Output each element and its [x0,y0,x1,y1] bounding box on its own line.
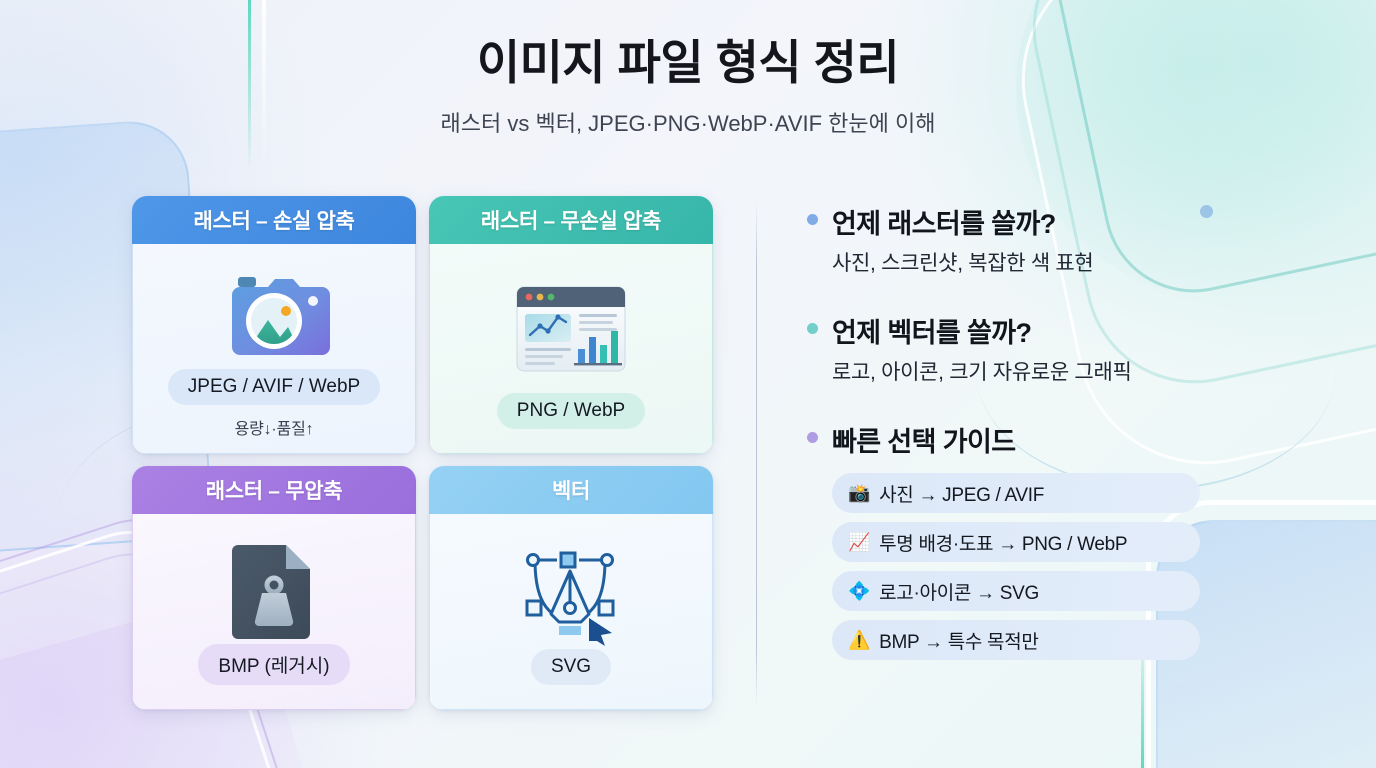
guide-row-text: 로고·아이콘 → SVG [879,578,1039,605]
diamond-with-dot-emoji-icon: 💠 [848,582,870,600]
block-quick-guide: 빠른 선택 가이드 📸 사진 → JPEG / AVIF 📈 투명 배경·도표 … [807,420,1376,660]
card-format-pill: PNG / WebP [497,393,645,429]
guide-row-photo[interactable]: 📸 사진 → JPEG / AVIF [832,473,1200,513]
card-heading: 래스터 – 무손실 압축 [429,196,713,244]
card-vector[interactable]: 벡터 [429,466,713,710]
card-heading: 래스터 – 손실 압축 [132,196,416,244]
guide-row-transparent-chart[interactable]: 📈 투명 배경·도표 → PNG / WebP [832,522,1200,562]
bullet-dot-icon [807,323,818,334]
pen-tool-icon [509,534,633,649]
card-raster-uncompressed[interactable]: 래스터 – 무압축 [132,466,416,710]
dashboard-window-icon [511,264,631,393]
card-raster-lossless[interactable]: 래스터 – 무손실 압축 [429,196,713,454]
quick-guide-list: 📸 사진 → JPEG / AVIF 📈 투명 배경·도표 → PNG / We… [832,473,1376,660]
block-title: 빠른 선택 가이드 [832,420,1015,459]
format-cards-column: 래스터 – 손실 압축 [0,196,756,726]
block-heading-row: 언제 벡터를 쓸까? [807,311,1376,350]
card-format-pill: JPEG / AVIF / WebP [168,369,380,405]
block-when-raster: 언제 래스터를 쓸까? 사진, 스크린샷, 복잡한 색 표현 [807,202,1376,277]
card-format-pill: BMP (레거시) [198,644,349,685]
block-description: 사진, 스크린샷, 복잡한 색 표현 [832,247,1376,277]
card-heading: 래스터 – 무압축 [132,466,416,514]
block-description: 로고, 아이콘, 크기 자유로운 그래픽 [832,356,1376,386]
guide-row-text: 투명 배경·도표 → PNG / WebP [879,529,1127,556]
card-body: PNG / WebP [429,244,713,454]
chart-increasing-emoji-icon: 📈 [848,533,870,551]
card-body: SVG [429,514,713,710]
card-raster-lossy[interactable]: 래스터 – 손실 압축 [132,196,416,454]
camera-with-flash-emoji-icon: 📸 [848,484,870,502]
warning-emoji-icon: ⚠️ [848,631,870,649]
page-title: 이미지 파일 형식 정리 [0,36,1376,90]
format-card-grid: 래스터 – 손실 압축 [132,196,756,710]
card-body: BMP (레거시) [132,514,416,710]
block-title: 언제 래스터를 쓸까? [832,202,1056,241]
card-body: JPEG / AVIF / WebP 용량↓·품질↑ [132,244,416,454]
card-heading: 벡터 [429,466,713,514]
block-title: 언제 벡터를 쓸까? [832,311,1031,350]
heavy-file-icon [228,534,320,644]
card-note: 용량↓·품질↑ [235,415,314,439]
explanation-panel: 언제 래스터를 쓸까? 사진, 스크린샷, 복잡한 색 표현 언제 벡터를 쓸까… [757,196,1376,726]
page-header: 이미지 파일 형식 정리 래스터 vs 벡터, JPEG·PNG·WebP·AV… [0,36,1376,138]
guide-row-text: BMP → 특수 목적만 [879,627,1038,654]
block-heading-row: 언제 래스터를 쓸까? [807,202,1376,241]
camera-photo-icon [218,264,330,369]
bullet-dot-icon [807,432,818,443]
page-subtitle: 래스터 vs 벡터, JPEG·PNG·WebP·AVIF 한눈에 이해 [0,106,1376,138]
main-content: 래스터 – 손실 압축 [0,196,1376,726]
block-heading-row: 빠른 선택 가이드 [807,420,1376,459]
card-format-pill: SVG [531,649,611,685]
guide-row-text: 사진 → JPEG / AVIF [879,480,1044,507]
bullet-dot-icon [807,214,818,225]
guide-row-logo-icon[interactable]: 💠 로고·아이콘 → SVG [832,571,1200,611]
guide-row-bmp[interactable]: ⚠️ BMP → 특수 목적만 [832,620,1200,660]
block-when-vector: 언제 벡터를 쓸까? 로고, 아이콘, 크기 자유로운 그래픽 [807,311,1376,386]
